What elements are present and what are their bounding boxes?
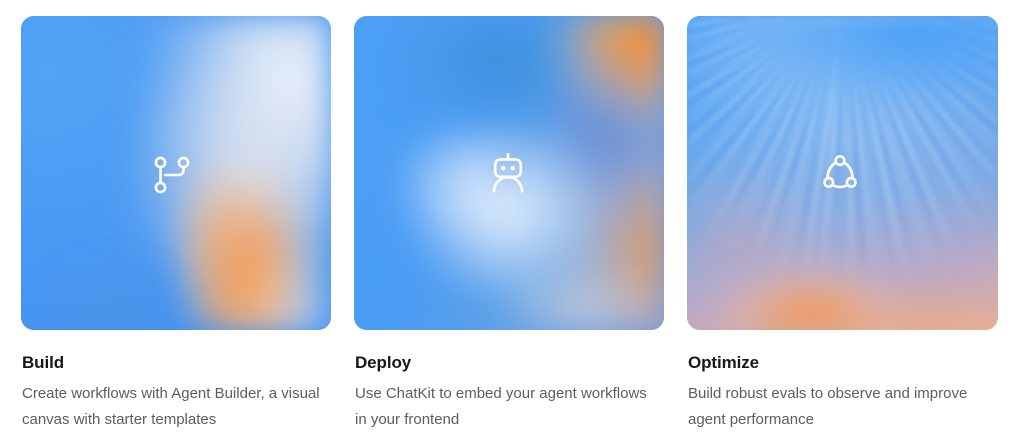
card-art-optimize xyxy=(687,16,998,330)
robot-icon xyxy=(486,151,530,195)
feature-card-build[interactable]: Build Create workflows with Agent Builde… xyxy=(21,16,331,433)
feature-card-grid: Build Create workflows with Agent Builde… xyxy=(0,0,1024,433)
card-description-deploy: Use ChatKit to embed your agent workflow… xyxy=(355,381,655,433)
feature-card-optimize[interactable]: Optimize Build robust evals to observe a… xyxy=(687,16,998,433)
card-title-optimize: Optimize xyxy=(688,353,998,373)
card-art-deploy xyxy=(354,16,664,330)
card-art-build xyxy=(21,16,331,330)
card-title-build: Build xyxy=(22,353,331,373)
card-description-build: Create workflows with Agent Builder, a v… xyxy=(22,381,322,433)
cycle-nodes-icon xyxy=(818,152,862,196)
card-title-deploy: Deploy xyxy=(355,353,664,373)
workflow-branch-icon xyxy=(150,153,194,197)
card-description-optimize: Build robust evals to observe and improv… xyxy=(688,381,988,433)
feature-card-deploy[interactable]: Deploy Use ChatKit to embed your agent w… xyxy=(354,16,664,433)
